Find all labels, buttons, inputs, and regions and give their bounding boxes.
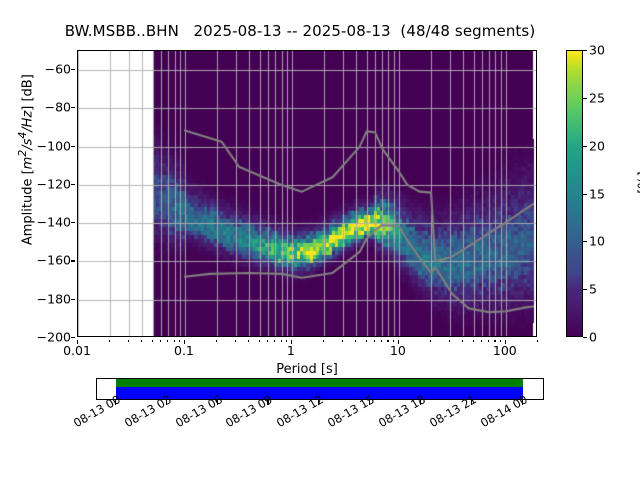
timeline-data-availability-bar[interactable] bbox=[116, 379, 523, 387]
x-tick-mark bbox=[267, 340, 268, 342]
colorbar-tick-label: 25 bbox=[589, 90, 605, 105]
y-tick-mark bbox=[71, 337, 75, 338]
x-tick-mark bbox=[235, 340, 236, 342]
x-tick-label: 10 bbox=[390, 343, 406, 358]
x-tick-mark bbox=[473, 340, 474, 342]
x-tick-mark bbox=[481, 340, 482, 342]
x-tick-mark bbox=[248, 340, 249, 342]
x-tick-mark bbox=[281, 340, 282, 342]
y-tick-label: −140 bbox=[3, 215, 71, 230]
x-tick-mark bbox=[430, 340, 431, 342]
x-axis-label: Period [s] bbox=[77, 362, 537, 377]
y-tick-mark bbox=[71, 260, 75, 261]
colorbar-tick-label: 30 bbox=[589, 43, 605, 58]
colorbar-tick-label: 15 bbox=[589, 186, 605, 201]
x-tick-mark bbox=[323, 340, 324, 342]
x-tick-mark bbox=[387, 340, 388, 342]
colorbar-tick-label: 20 bbox=[589, 138, 605, 153]
x-tick-mark bbox=[374, 340, 375, 342]
x-tick-label: 1 bbox=[287, 343, 295, 358]
y-tick-label: −120 bbox=[3, 176, 71, 191]
x-axis-ticks: 0.010.1110100 bbox=[77, 340, 537, 364]
x-tick-mark bbox=[488, 340, 489, 342]
y-axis-ticks: −60−80−100−120−140−160−180−200 bbox=[0, 50, 71, 337]
x-tick-mark bbox=[259, 340, 260, 342]
y-tick-label: −200 bbox=[3, 330, 71, 345]
x-tick-mark bbox=[449, 340, 450, 342]
y-tick-label: −160 bbox=[3, 253, 71, 268]
timeline-date-labels: 08-13 0008-13 0308-13 0608-13 0908-13 12… bbox=[0, 404, 640, 474]
colorbar-tick-mark bbox=[583, 98, 587, 99]
colorbar-tick-label: 5 bbox=[589, 282, 597, 297]
page-title: BW.MSBB..BHN 2025-08-13 -- 2025-08-13 (4… bbox=[0, 22, 600, 40]
y-tick-label: −180 bbox=[3, 291, 71, 306]
x-tick-mark bbox=[128, 340, 129, 342]
y-tick-mark bbox=[71, 299, 75, 300]
x-tick-mark bbox=[355, 340, 356, 342]
x-tick-mark bbox=[537, 340, 538, 342]
y-tick-mark bbox=[71, 146, 75, 147]
colorbar-ticks: 051015202530 bbox=[583, 50, 638, 337]
colorbar-tick-mark bbox=[583, 194, 587, 195]
colorbar-tick-mark bbox=[583, 146, 587, 147]
y-tick-label: −100 bbox=[3, 138, 71, 153]
y-tick-label: −60 bbox=[3, 62, 71, 77]
x-tick-mark bbox=[342, 340, 343, 342]
x-tick-label: 0.1 bbox=[174, 343, 194, 358]
ppsd-heatmap-plot[interactable] bbox=[77, 50, 537, 337]
y-tick-mark bbox=[71, 107, 75, 108]
y-tick-mark bbox=[71, 184, 75, 185]
x-tick-mark bbox=[109, 340, 110, 342]
x-tick-mark bbox=[152, 340, 153, 342]
x-tick-mark bbox=[167, 340, 168, 342]
x-tick-mark bbox=[160, 340, 161, 342]
colorbar-tick-mark bbox=[583, 289, 587, 290]
y-tick-mark bbox=[71, 69, 75, 70]
colorbar-tick-mark bbox=[583, 241, 587, 242]
x-tick-mark bbox=[366, 340, 367, 342]
colorbar-label: [%] bbox=[637, 143, 640, 223]
y-tick-label: −80 bbox=[3, 100, 71, 115]
x-tick-mark bbox=[216, 340, 217, 342]
colorbar-tick-mark bbox=[583, 337, 587, 338]
colorbar-gradient bbox=[566, 50, 583, 337]
x-tick-label: 100 bbox=[493, 343, 517, 358]
y-tick-mark bbox=[71, 222, 75, 223]
colorbar-tick-mark bbox=[583, 50, 587, 51]
x-tick-mark bbox=[381, 340, 382, 342]
x-tick-mark bbox=[462, 340, 463, 342]
x-tick-mark bbox=[274, 340, 275, 342]
colorbar-tick-label: 10 bbox=[589, 234, 605, 249]
x-tick-mark bbox=[141, 340, 142, 342]
x-tick-label: 0.01 bbox=[63, 343, 91, 358]
colorbar-tick-label: 0 bbox=[589, 330, 597, 345]
